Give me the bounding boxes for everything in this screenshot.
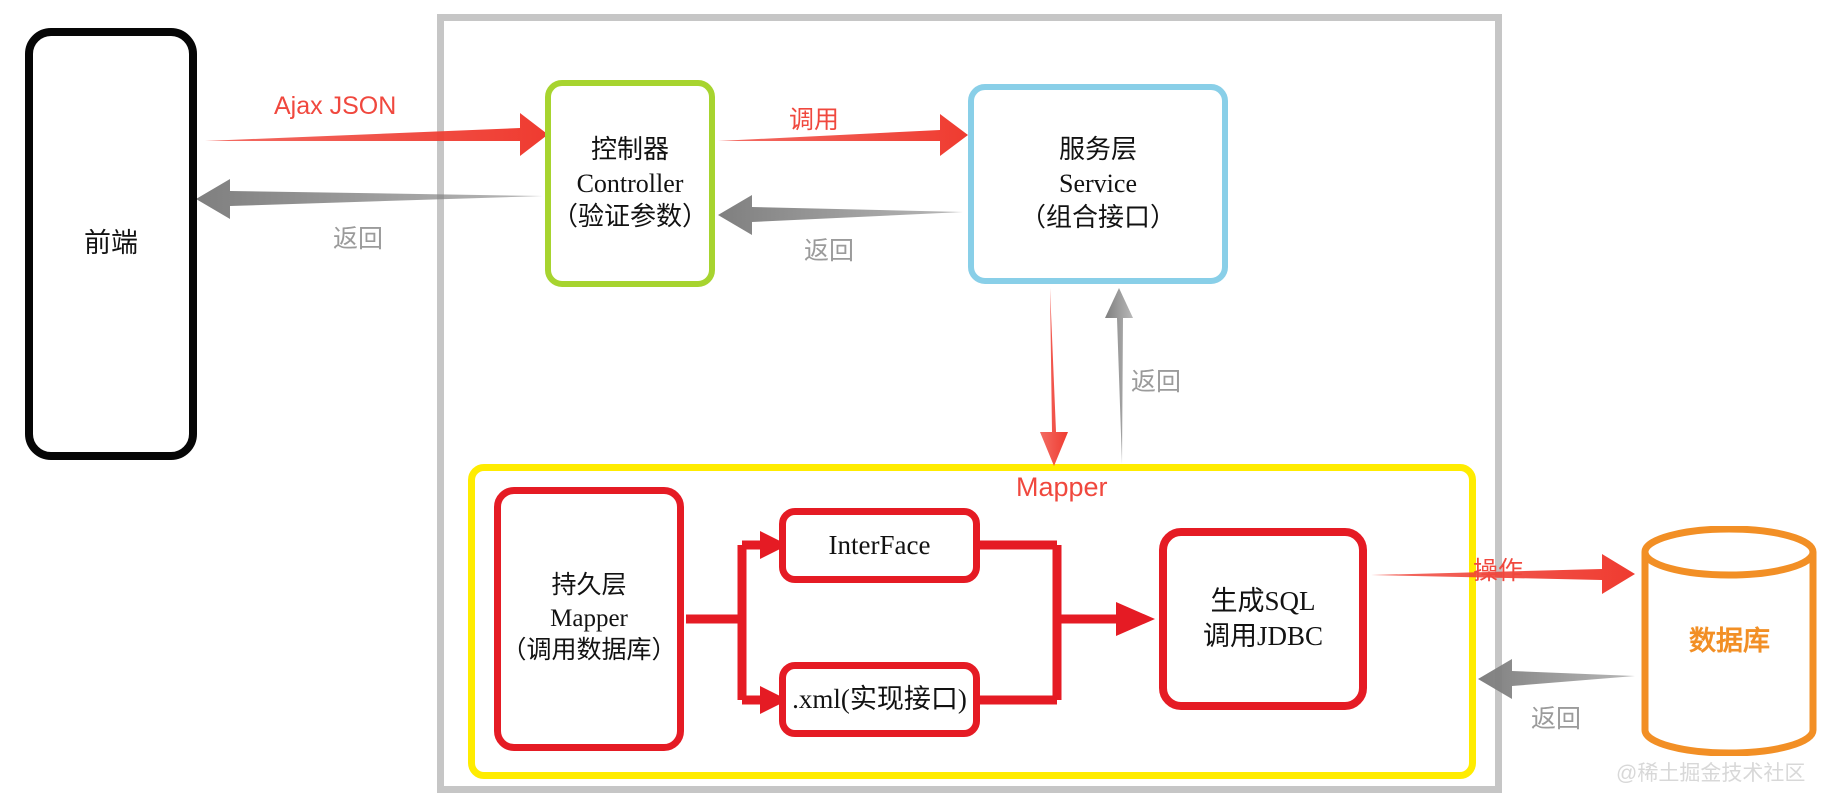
edge-label-database-return: 返回 <box>1531 699 1581 735</box>
node-sql-line-0: 生成SQL <box>1210 584 1315 619</box>
edge-label-controller-return: 返回 <box>333 219 383 255</box>
node-sql-line-1: 调用JDBC <box>1203 619 1323 654</box>
edge-label-operate-database: 操作 <box>1473 551 1523 587</box>
node-service-line-1: Service <box>1059 167 1137 201</box>
node-controller-line-0: 控制器 <box>591 133 669 167</box>
node-frontend-line-0: 前端 <box>84 226 138 261</box>
node-controller-line-1: Controller <box>577 167 684 201</box>
edge-label-invoke-service: 调用 <box>789 100 839 136</box>
node-persistence-line-0: 持久层 <box>551 570 626 603</box>
diagram-canvas: 前端 控制器 Controller （验证参数） 服务层 Service （组合… <box>0 0 1832 801</box>
edge-label-ajax-json: Ajax JSON <box>274 92 396 121</box>
node-controller[interactable]: 控制器 Controller （验证参数） <box>545 80 715 287</box>
node-interface[interactable]: InterFace <box>779 508 980 583</box>
node-persistence-line-2: （调用数据库） <box>501 635 676 668</box>
node-service-line-0: 服务层 <box>1059 133 1137 167</box>
edge-label-mapper-return: 返回 <box>1131 362 1181 398</box>
node-controller-line-2: （验证参数） <box>552 200 708 234</box>
node-frontend[interactable]: 前端 <box>25 28 197 460</box>
node-interface-line-0: InterFace <box>829 528 931 563</box>
node-persistence-mapper[interactable]: 持久层 Mapper （调用数据库） <box>494 487 684 751</box>
node-persistence-line-1: Mapper <box>550 603 628 636</box>
group-label-mapper: Mapper <box>1016 472 1108 503</box>
node-database-label: 数据库 <box>1637 619 1822 658</box>
node-xml-line-0: .xml(实现接口) <box>792 682 967 717</box>
node-service[interactable]: 服务层 Service （组合接口） <box>968 84 1228 284</box>
edge-label-service-return: 返回 <box>804 231 854 267</box>
node-generate-sql[interactable]: 生成SQL 调用JDBC <box>1159 528 1367 710</box>
node-xml[interactable]: .xml(实现接口) <box>779 662 980 737</box>
node-service-line-2: （组合接口） <box>1020 201 1176 235</box>
watermark: @稀土掘金技术社区 <box>1616 757 1805 787</box>
